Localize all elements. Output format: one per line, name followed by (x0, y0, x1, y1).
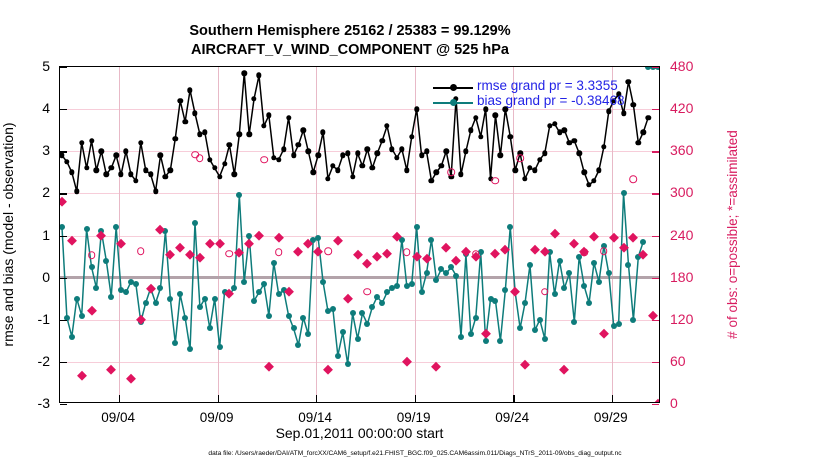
y-tick-label-right: 240 (670, 227, 716, 243)
data-point (89, 264, 95, 270)
data-point (502, 287, 508, 293)
data-point (286, 313, 292, 319)
data-point (84, 226, 90, 232)
data-point (355, 336, 361, 342)
data-point (330, 306, 336, 312)
data-point (123, 289, 129, 295)
y-tick-label-right: 120 (670, 311, 716, 327)
series-lines (60, 67, 659, 402)
data-point (497, 338, 503, 344)
data-point (261, 281, 267, 287)
x-tick-label: 09/14 (280, 410, 350, 425)
data-point (453, 273, 459, 279)
possible-marker (260, 156, 268, 164)
data-point (369, 304, 375, 310)
data-point (207, 325, 213, 331)
y-tick-label-right: 60 (670, 353, 716, 369)
data-point (177, 291, 183, 297)
possible-marker (541, 288, 549, 296)
data-point (433, 277, 439, 283)
tick-mark-right (652, 362, 659, 363)
tick-mark-right (652, 278, 659, 279)
data-point (74, 296, 80, 302)
x-axis-label: Sep.01,2011 00:00:00 start (59, 425, 660, 441)
data-point (409, 281, 415, 287)
possible-marker (447, 169, 455, 177)
data-point (379, 300, 385, 306)
bias-marker-sample (450, 99, 457, 106)
data-point (419, 289, 425, 295)
x-tick-label: 09/04 (83, 410, 153, 425)
data-point (182, 315, 188, 321)
tick-mark (60, 404, 67, 405)
data-point (108, 294, 114, 300)
y-tick-label-left: 1 (6, 227, 50, 243)
data-point (241, 279, 247, 285)
plot-canvas (60, 67, 659, 402)
possible-marker (137, 247, 145, 255)
chart-title: Southern Hemisphere 25162 / 25383 = 99.1… (0, 22, 700, 60)
data-point (192, 220, 198, 226)
data-point (345, 361, 351, 367)
tick-mark (60, 362, 67, 363)
data-point (542, 336, 548, 342)
data-point (522, 300, 528, 306)
y-tick-label-left: -1 (6, 311, 50, 327)
data-point (340, 329, 346, 335)
data-point (335, 353, 341, 359)
data-point (172, 340, 178, 346)
data-point (561, 285, 567, 291)
data-point (591, 260, 597, 266)
data-point (473, 315, 479, 321)
data-point (507, 224, 513, 230)
data-point (305, 331, 311, 337)
data-point (202, 296, 208, 302)
legend-row-bias: bias grand pr = -0.38468 (433, 95, 673, 110)
plot-area: rmse grand pr = 3.3355 bias grand pr = -… (59, 66, 660, 403)
tick-mark (60, 320, 67, 321)
data-point (527, 262, 533, 268)
tick-mark (119, 395, 120, 402)
possible-marker (226, 250, 234, 258)
y-tick-label-right: 180 (670, 269, 716, 285)
data-point (236, 192, 242, 198)
rmse-marker-sample (450, 84, 457, 91)
possible-marker (364, 288, 372, 296)
data-point (625, 262, 631, 268)
data-point (266, 313, 272, 319)
data-point (616, 321, 622, 327)
y-tick-label-left: 5 (6, 58, 50, 74)
data-point (448, 264, 454, 270)
data-point (246, 233, 252, 239)
legend-label-bias: bias grand pr = -0.38468 (477, 93, 624, 108)
tick-mark (60, 67, 67, 68)
data-point (557, 258, 563, 264)
y-tick-label-right: 420 (670, 100, 716, 116)
data-point (517, 325, 523, 331)
possible-marker (492, 177, 500, 185)
tick-mark (218, 395, 219, 402)
data-point (364, 321, 370, 327)
data-point (374, 294, 380, 300)
tick-mark-right (652, 320, 659, 321)
data-point (187, 346, 193, 352)
tick-mark (316, 395, 317, 402)
data-point (586, 300, 592, 306)
data-point (93, 285, 99, 291)
data-point (251, 298, 257, 304)
data-point (537, 317, 543, 323)
data-point (143, 300, 149, 306)
data-point (295, 342, 301, 348)
data-point (217, 344, 223, 350)
data-point (231, 285, 237, 291)
x-tick-label: 09/24 (477, 410, 547, 425)
tick-mark-right (652, 67, 659, 68)
data-point (113, 224, 119, 230)
data-point (69, 334, 75, 340)
possible-marker (324, 247, 332, 255)
data-point (300, 315, 306, 321)
tick-mark (612, 395, 613, 402)
tick-mark-right (652, 193, 659, 194)
data-point (350, 310, 356, 316)
x-tick-label: 09/29 (576, 410, 646, 425)
possible-marker (580, 249, 588, 257)
data-point (315, 235, 321, 241)
data-point (359, 310, 365, 316)
possible-marker (472, 250, 480, 258)
possible-marker (630, 176, 638, 184)
title-line-2: AIRCRAFT_V_WIND_COMPONENT @ 525 hPa (0, 41, 700, 60)
data-point (552, 291, 558, 297)
tick-mark (60, 236, 67, 237)
data-point (133, 281, 139, 287)
data-point (103, 258, 109, 264)
data-point (256, 289, 262, 295)
data-point (492, 298, 498, 304)
data-point (291, 325, 297, 331)
tick-mark (60, 109, 67, 110)
data-point (566, 270, 572, 276)
legend-label-rmse: rmse grand pr = 3.3355 (477, 78, 618, 93)
data-point (79, 313, 85, 319)
y-tick-label-left: 4 (6, 100, 50, 116)
x-tick-label: 09/19 (379, 410, 449, 425)
data-point (596, 279, 602, 285)
data-point (394, 283, 400, 289)
data-point (468, 331, 474, 337)
tick-mark-right (652, 404, 659, 405)
data-point (630, 317, 636, 323)
y-tick-label-left: 2 (6, 184, 50, 200)
data-file-footer: data file: /Users/raeder/DAI/ATM_forcXX/… (0, 450, 830, 457)
y-tick-label-right: 300 (670, 184, 716, 200)
possible-marker (88, 251, 96, 259)
data-point (424, 270, 430, 276)
data-point (167, 296, 173, 302)
possible-marker (600, 247, 608, 255)
y-tick-label-left: 0 (6, 269, 50, 285)
data-point (414, 224, 420, 230)
data-point (532, 327, 538, 333)
data-point (271, 260, 277, 266)
data-point (571, 319, 577, 325)
legend: rmse grand pr = 3.3355 bias grand pr = -… (433, 80, 673, 110)
data-point (458, 334, 464, 340)
tick-mark (60, 151, 67, 152)
data-point (640, 239, 646, 245)
y-axis-right-label: # of obs: o=possible; *=assimilated (723, 66, 743, 403)
possible-marker (275, 249, 283, 257)
data-point (212, 296, 218, 302)
possible-marker (516, 154, 524, 162)
data-point (428, 237, 434, 243)
data-point (443, 270, 449, 276)
tick-mark-right (652, 236, 659, 237)
tick-mark (513, 395, 514, 402)
data-point (320, 279, 326, 285)
data-point (581, 283, 587, 289)
tick-mark (415, 395, 416, 402)
x-tick-label: 09/09 (182, 410, 252, 425)
y-tick-label-left: -3 (6, 395, 50, 411)
tick-mark (60, 193, 67, 194)
data-point (606, 270, 612, 276)
tick-mark (60, 278, 67, 279)
data-point (197, 304, 203, 310)
y-tick-label-left: 3 (6, 142, 50, 158)
y-tick-label-right: 480 (670, 58, 716, 74)
y-tick-label-right: 0 (670, 395, 716, 411)
y-tick-label-left: -2 (6, 353, 50, 369)
possible-marker (403, 249, 411, 257)
possible-marker (196, 154, 204, 162)
series-line (62, 193, 643, 364)
tick-mark-right (652, 151, 659, 152)
data-point (153, 300, 159, 306)
data-point (157, 285, 163, 291)
title-line-1: Southern Hemisphere 25162 / 25383 = 99.1… (0, 22, 700, 41)
data-point (621, 190, 627, 196)
y-tick-label-right: 360 (670, 142, 716, 158)
